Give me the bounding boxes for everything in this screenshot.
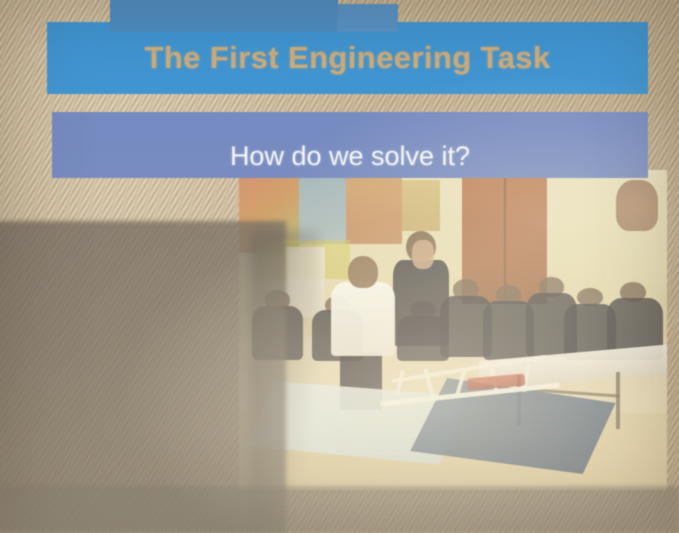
clapping-hands [412, 240, 433, 269]
bottom-shadow-band [0, 486, 679, 533]
slide-title-text: The First Engineering Task [47, 40, 648, 76]
slide-subtitle-text: How do we solve it? [52, 141, 648, 172]
slide-title-band: The First Engineering Task [47, 22, 648, 94]
clapping-adult-body [393, 260, 449, 346]
title-band-upper-patch-2 [338, 4, 398, 32]
presenter-head [348, 256, 378, 288]
display-board-c [346, 170, 402, 244]
title-band-upper-patch [110, 0, 338, 32]
screenshot-root: How do we solve it? The First Engineerin… [0, 0, 679, 533]
truss-bridge-structure [380, 362, 560, 420]
truss-diagonal [395, 370, 404, 397]
wall-plaque [616, 180, 659, 231]
presenter-shirt [331, 282, 395, 356]
shadow-soft-edge [250, 230, 320, 530]
slide-subtitle-band: How do we solve it? [52, 112, 648, 178]
display-board-d [402, 180, 441, 231]
table-leg-right [616, 372, 620, 430]
